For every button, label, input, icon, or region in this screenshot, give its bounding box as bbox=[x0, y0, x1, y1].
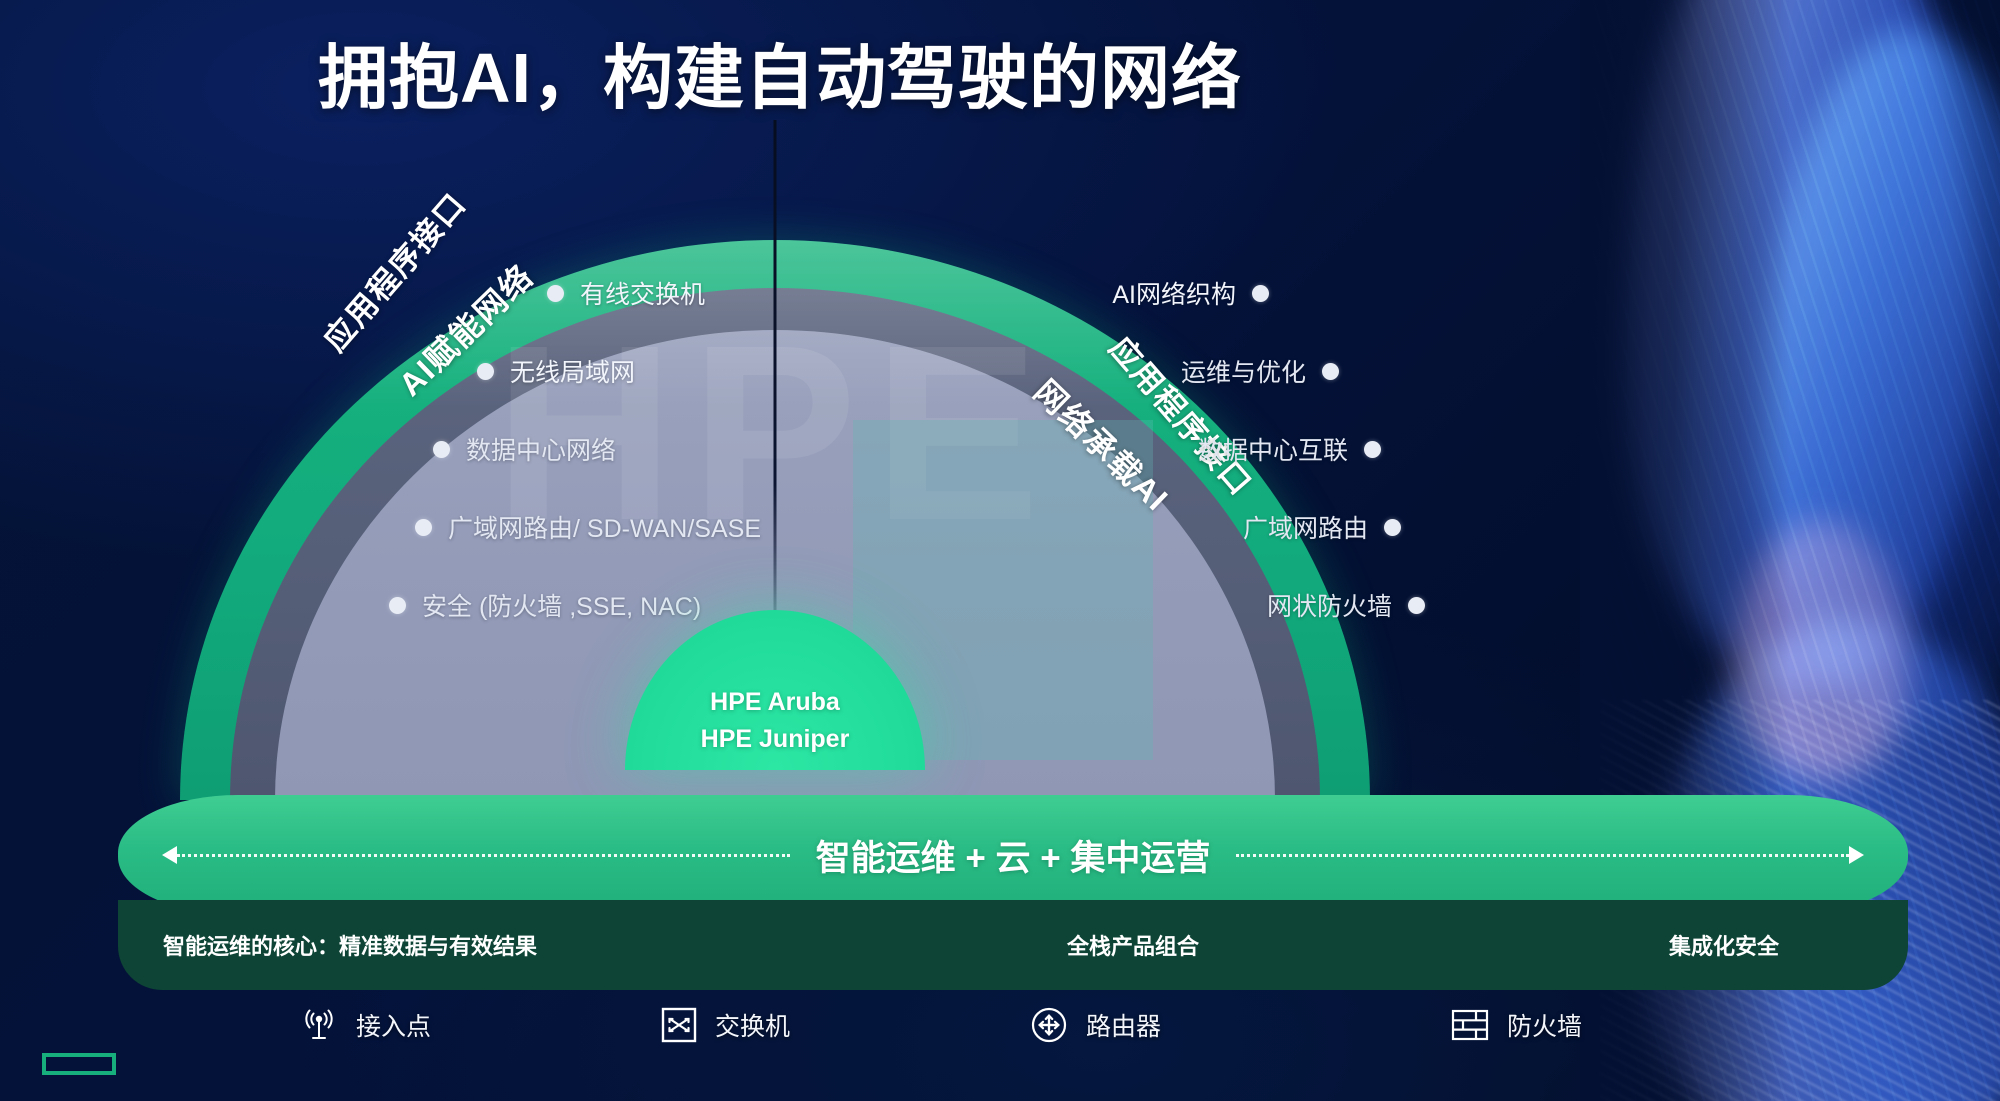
plinth-bar: 智能运维 + 云 + 集中运营 bbox=[118, 795, 1908, 915]
dome-brand-juniper: HPE Juniper bbox=[701, 725, 850, 754]
bullet-dot-icon bbox=[1252, 285, 1269, 302]
page-title: 拥抱AI，构建自动驾驶的网络 bbox=[0, 22, 1560, 123]
bullet-dot-icon bbox=[415, 519, 432, 536]
list-item-label: 广域网路由 bbox=[1243, 509, 1368, 545]
dome-brand-aruba: HPE Aruba bbox=[710, 688, 840, 717]
list-item-label: 广域网路由/ SD-WAN/SASE bbox=[448, 509, 761, 545]
list-item[interactable]: 安全 (防火墙 ,SSE, NAC) bbox=[389, 587, 935, 623]
list-item-label: 安全 (防火墙 ,SSE, NAC) bbox=[422, 587, 701, 623]
list-item[interactable]: 网状防火墙 bbox=[875, 587, 1425, 623]
legend-item-router[interactable]: 路由器 bbox=[1030, 1006, 1161, 1044]
footer-cell-security: 集成化安全 bbox=[1669, 929, 1779, 961]
switch-icon bbox=[661, 1007, 697, 1043]
bullet-dot-icon bbox=[389, 597, 406, 614]
router-icon bbox=[1030, 1006, 1068, 1044]
list-item[interactable]: AI网络织构 bbox=[875, 275, 1269, 311]
bullet-dot-icon bbox=[1322, 363, 1339, 380]
list-item-label: AI网络织构 bbox=[1112, 275, 1236, 311]
footer-bar: 智能运维的核心：精准数据与有效结果 全栈产品组合 集成化安全 bbox=[118, 900, 1908, 990]
legend-label: 防火墙 bbox=[1507, 1007, 1582, 1043]
access-point-icon bbox=[300, 1006, 338, 1044]
legend-label: 路由器 bbox=[1086, 1007, 1161, 1043]
slide-canvas: 拥抱AI，构建自动驾驶的网络 HPE 应用程序接口 AI赋能网络 应用程序接口 … bbox=[0, 0, 2000, 1101]
list-item-label: 有线交换机 bbox=[580, 275, 705, 311]
bullet-dot-icon bbox=[1384, 519, 1401, 536]
legend-label: 接入点 bbox=[356, 1007, 431, 1043]
bullet-dot-icon bbox=[477, 363, 494, 380]
arrow-dashes-left bbox=[177, 854, 790, 857]
list-item[interactable]: 广域网路由 bbox=[875, 509, 1401, 545]
list-item-label: 数据中心互联 bbox=[1198, 431, 1348, 467]
bullet-dot-icon bbox=[1364, 441, 1381, 458]
arrow-dashes-right bbox=[1236, 854, 1849, 857]
arch-diagram: HPE 应用程序接口 AI赋能网络 应用程序接口 网络承载AI 有线交换机 无线… bbox=[115, 120, 1435, 800]
list-item-label: 运维与优化 bbox=[1181, 353, 1306, 389]
legend-label: 交换机 bbox=[715, 1007, 790, 1043]
list-item[interactable]: 数据中心互联 bbox=[875, 431, 1381, 467]
bullet-dot-icon bbox=[547, 285, 564, 302]
bullet-dot-icon bbox=[433, 441, 450, 458]
list-item-label: 无线局域网 bbox=[510, 353, 635, 389]
plinth-content: 智能运维 + 云 + 集中运营 bbox=[118, 795, 1908, 915]
list-item[interactable]: 运维与优化 bbox=[875, 353, 1339, 389]
footer-cell-portfolio: 全栈产品组合 bbox=[1067, 929, 1199, 961]
arrow-left bbox=[162, 848, 790, 862]
arrow-head-left-icon bbox=[162, 846, 177, 864]
hpe-logo bbox=[42, 1053, 116, 1075]
footer-cell-core: 智能运维的核心：精准数据与有效结果 bbox=[163, 929, 537, 961]
legend: 接入点 交换机 bbox=[300, 995, 1700, 1055]
list-item-label: 数据中心网络 bbox=[466, 431, 616, 467]
legend-item-switch[interactable]: 交换机 bbox=[661, 1007, 790, 1043]
legend-item-firewall[interactable]: 防火墙 bbox=[1451, 1007, 1582, 1043]
right-bullet-list: AI网络织构 运维与优化 数据中心互联 广域网路由 网状防火墙 bbox=[875, 275, 1395, 665]
list-item[interactable]: 无线局域网 bbox=[477, 353, 935, 389]
bullet-dot-icon bbox=[1408, 597, 1425, 614]
list-item[interactable]: 广域网路由/ SD-WAN/SASE bbox=[415, 509, 935, 545]
legend-item-access-point[interactable]: 接入点 bbox=[300, 1006, 431, 1044]
list-item-label: 网状防火墙 bbox=[1267, 587, 1392, 623]
list-item[interactable]: 数据中心网络 bbox=[433, 431, 935, 467]
arrow-head-right-icon bbox=[1849, 846, 1864, 864]
plinth-center-label: 智能运维 + 云 + 集中运营 bbox=[816, 830, 1211, 881]
arrow-right bbox=[1236, 848, 1864, 862]
firewall-icon bbox=[1451, 1009, 1489, 1041]
left-bullet-list: 有线交换机 无线局域网 数据中心网络 广域网路由/ SD-WAN/SASE 安全… bbox=[415, 275, 935, 665]
